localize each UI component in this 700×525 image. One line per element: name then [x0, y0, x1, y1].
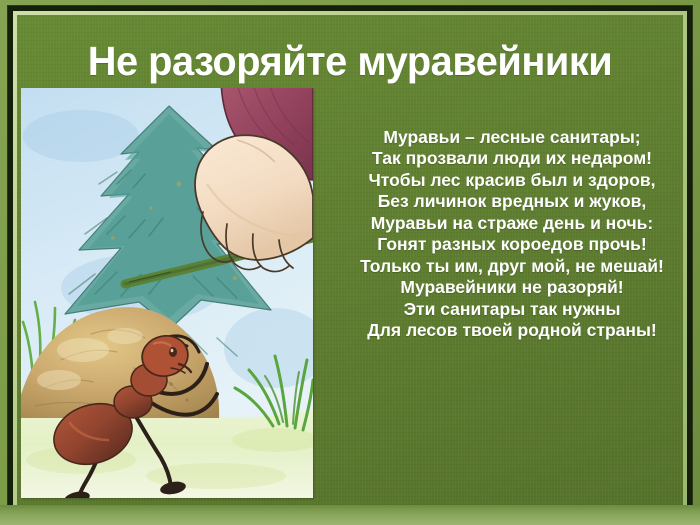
illustration-image: [21, 88, 313, 498]
poem-line: Чтобы лес красив был и здоров,: [347, 170, 677, 190]
poem-line: Без личинок вредных и жуков,: [347, 191, 677, 211]
page-title: Не разоряйте муравейники: [27, 41, 673, 82]
poem-line: Муравейники не разоряй!: [347, 277, 677, 297]
poem-line: Так прозвали люди их недаром!: [347, 148, 677, 168]
poem-line: Гонят разных короедов прочь!: [347, 234, 677, 254]
poem-line: Эти санитары так нужны: [347, 299, 677, 319]
poem-line: Муравьи на страже день и ночь:: [347, 213, 677, 233]
slide-root: Не разоряйте муравейники: [0, 0, 700, 525]
poem-text: Муравьи – лесные санитары; Так прозвали …: [347, 127, 677, 342]
poem-line: Муравьи – лесные санитары;: [347, 127, 677, 147]
poem-line: Только ты им, друг мой, не мешай!: [347, 256, 677, 276]
slide-stage: Не разоряйте муравейники: [17, 15, 683, 505]
frame-bottom-band: [0, 505, 700, 525]
poem-line: Для лесов твоей родной страны!: [347, 320, 677, 340]
illustration-svg: [21, 88, 313, 498]
